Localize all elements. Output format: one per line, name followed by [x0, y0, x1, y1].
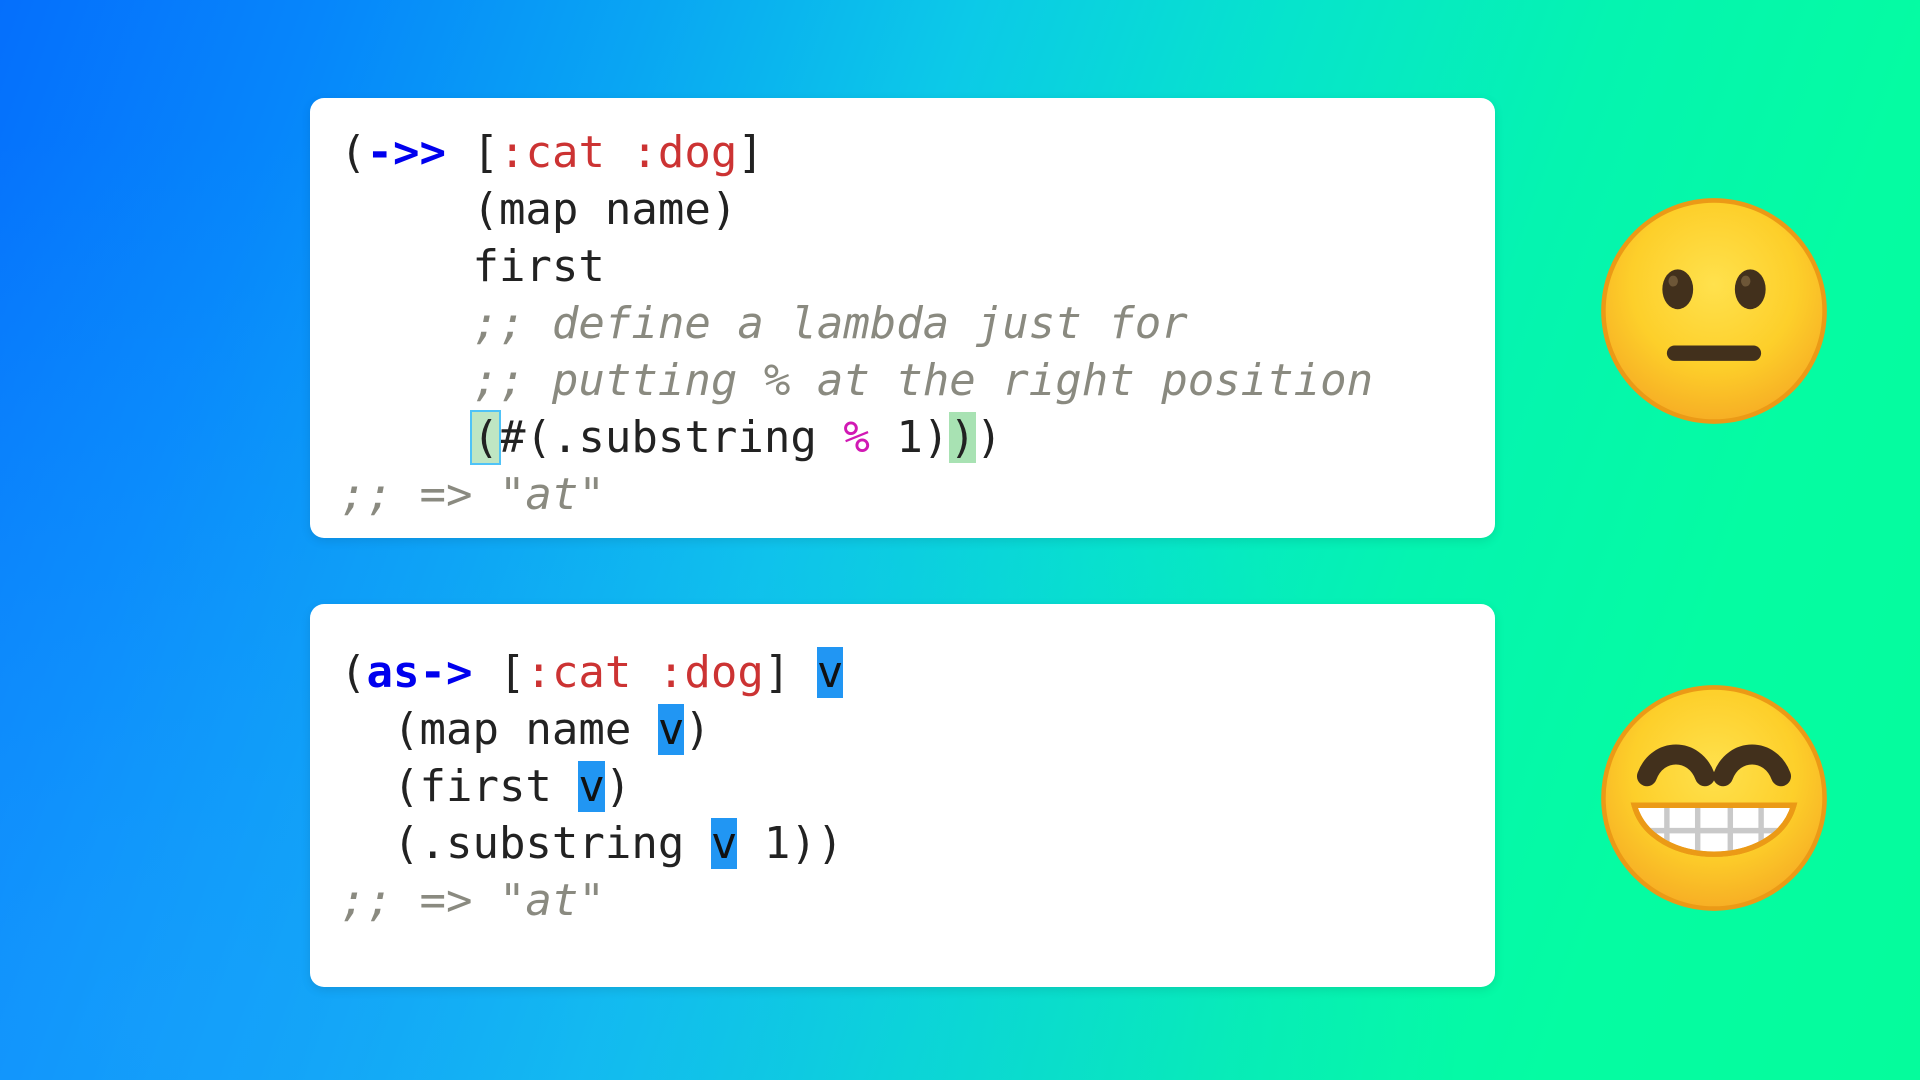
code-token-plain: (.substring — [340, 818, 711, 869]
code-token-plain: ) — [605, 761, 632, 812]
code-token-plain: ) — [976, 412, 1003, 463]
code-card-thread-last: (->> [:cat :dog] (map name) first ;; def… — [310, 98, 1495, 538]
code-token-kw: :cat :dog — [525, 647, 763, 698]
code-block: (->> [:cat :dog] (map name) first ;; def… — [340, 124, 1465, 523]
code-token-v-highlight: v — [658, 704, 685, 755]
code-block: (as-> [:cat :dog] v (map name v) (first … — [340, 644, 1465, 929]
code-card-as-thread: (as-> [:cat :dog] v (map name v) (first … — [310, 604, 1495, 987]
code-token-paren-open-highlight: ( — [472, 412, 499, 463]
code-token-fn: as-> — [367, 647, 473, 698]
code-token-paren-match-highlight: ) — [949, 412, 976, 463]
code-line: (as-> [:cat :dog] v — [340, 644, 1465, 701]
slide-canvas: (->> [:cat :dog] (map name) first ;; def… — [0, 0, 1920, 1080]
code-token-plain: (first — [340, 761, 578, 812]
code-token-plain: ( — [340, 647, 367, 698]
code-token-bracket: ] — [764, 647, 817, 698]
code-token-comment: ;; define a lambda just for — [340, 298, 1188, 349]
code-token-plain — [340, 412, 472, 463]
code-line: ;; => "at" — [340, 872, 1465, 929]
code-line: (.substring v 1)) — [340, 815, 1465, 872]
code-line: ;; => "at" — [340, 466, 1465, 523]
code-token-comment: ;; => "at" — [340, 875, 605, 926]
code-token-v-highlight: v — [817, 647, 844, 698]
code-token-plain: 1)) — [737, 818, 843, 869]
code-line: (map name v) — [340, 701, 1465, 758]
code-token-kw: :cat :dog — [499, 127, 737, 178]
code-token-bracket: [ — [472, 647, 525, 698]
code-token-bracket: ] — [737, 127, 764, 178]
code-line: first — [340, 238, 1465, 295]
code-token-plain: ) — [684, 704, 711, 755]
code-token-comment: ;; putting % at the right position — [340, 355, 1373, 406]
code-token-plain: first — [340, 241, 605, 292]
code-line: (#(.substring % 1))) — [340, 409, 1465, 466]
code-line: (map name) — [340, 181, 1465, 238]
code-token-plain: (map name — [340, 704, 658, 755]
code-line: ;; define a lambda just for — [340, 295, 1465, 352]
neutral-face-emoji — [1598, 195, 1830, 427]
code-token-pct: % — [843, 412, 870, 463]
code-token-fn: ->> — [367, 127, 446, 178]
code-token-plain: #(.substring — [499, 412, 843, 463]
code-token-plain: 1) — [870, 412, 949, 463]
code-line: ;; putting % at the right position — [340, 352, 1465, 409]
code-token-v-highlight: v — [711, 818, 738, 869]
code-token-v-highlight: v — [578, 761, 605, 812]
grinning-face-emoji — [1598, 682, 1830, 914]
code-token-plain: ( — [340, 127, 367, 178]
code-token-plain: (map name) — [340, 184, 737, 235]
code-token-bracket: [ — [446, 127, 499, 178]
code-line: (first v) — [340, 758, 1465, 815]
code-line: (->> [:cat :dog] — [340, 124, 1465, 181]
code-token-comment: ;; => "at" — [340, 469, 605, 520]
